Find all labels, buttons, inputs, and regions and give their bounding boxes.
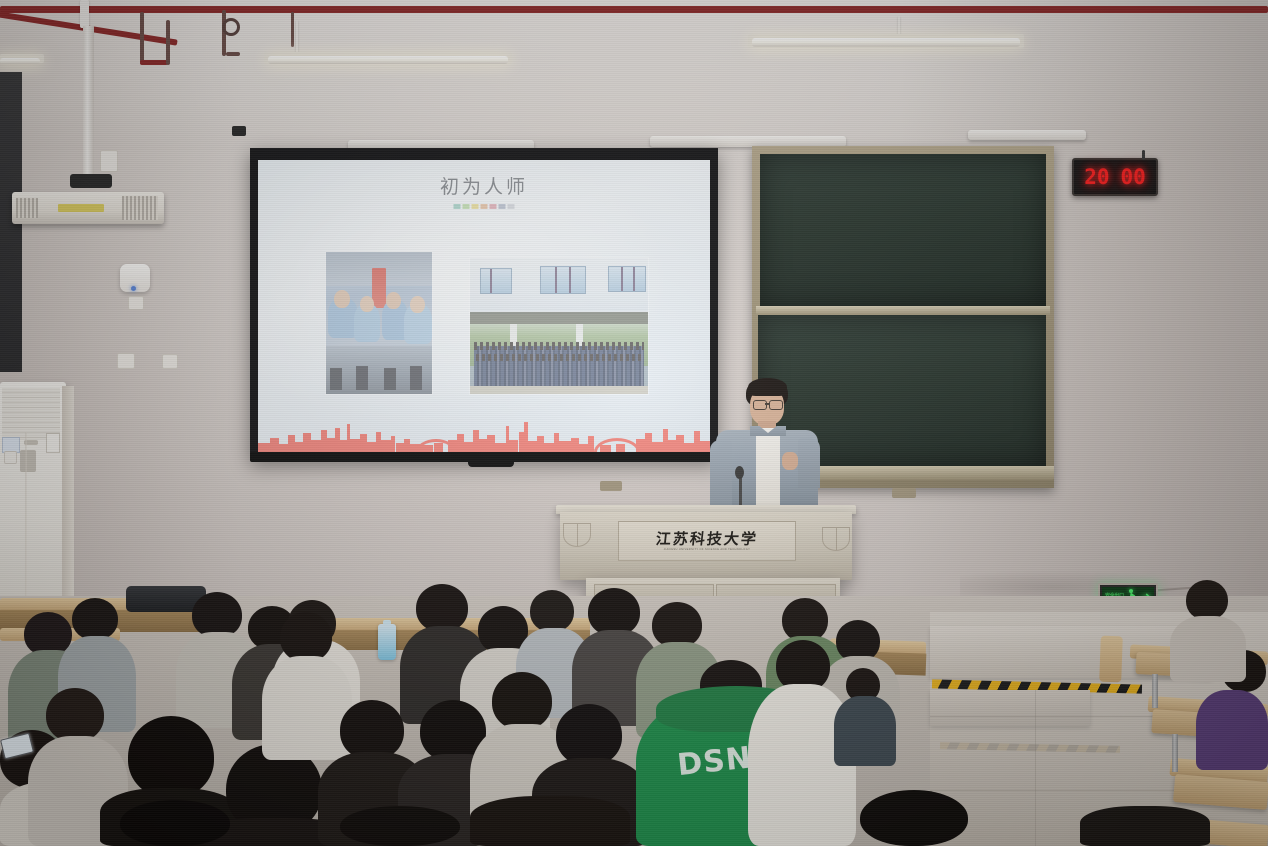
clock-display: 20 00 (1084, 165, 1146, 189)
slide-title: 初为人师 (258, 172, 710, 199)
student-head-r2 (1186, 580, 1228, 620)
lecture-hall-photo: 初为人师 (0, 0, 1268, 846)
sprinkler-pipe-main (0, 6, 1268, 13)
clock-hours: 20 (1084, 165, 1109, 189)
student-head-f2 (340, 806, 460, 846)
pipe-drop-right (166, 20, 170, 65)
clock-wire (1142, 150, 1145, 160)
accent-square-7 (508, 204, 515, 209)
student-body-r1-purple (1196, 690, 1268, 770)
presenter (700, 378, 830, 508)
podium-crest-right (822, 527, 850, 551)
digital-clock: 20 00 (1072, 158, 1158, 196)
projector-vent-left (16, 198, 38, 218)
slide-photo-class-group (470, 312, 648, 394)
projector-vent-right (122, 196, 158, 220)
presenter-hair-top (748, 378, 787, 396)
air-conditioner-control-panel (20, 450, 36, 472)
pipe-bracket-horizontal (140, 60, 168, 65)
wall-switch-plate-ap (128, 296, 144, 310)
accent-square-2 (463, 204, 470, 209)
student-head-m3 (128, 716, 214, 798)
presenter-arm-right (798, 438, 820, 488)
podium-microphone (735, 466, 744, 479)
student-head-m8 (492, 672, 552, 730)
building-window-2 (540, 266, 586, 294)
light-hanger-1 (296, 20, 298, 56)
student-head-b6 (416, 584, 468, 632)
slide-accent-squares (454, 204, 515, 209)
blackboard-bracket-right (892, 488, 916, 498)
presenter-glasses-bridge (765, 403, 769, 405)
screen-weight-center-tab (468, 460, 514, 467)
student-body-m5 (262, 656, 352, 760)
projector-wall-box (100, 150, 118, 172)
pipe-hook-2 (226, 52, 240, 56)
student-head-m5 (280, 612, 332, 662)
wifi-led-icon (131, 286, 136, 291)
screen-roller-bracket (232, 126, 246, 136)
floor-step-lower (930, 690, 1090, 726)
student-body-m11 (834, 696, 896, 766)
accent-square-5 (490, 204, 497, 209)
accent-square-3 (472, 204, 479, 209)
student-head-m9 (556, 704, 622, 766)
wall-switch-plate-2 (162, 354, 178, 369)
student-head-m2 (46, 688, 104, 742)
projection-screen-surface: 初为人师 (258, 160, 710, 452)
accent-square-6 (499, 204, 506, 209)
slide-skyline-decoration (258, 418, 710, 452)
accent-square-4 (481, 204, 488, 209)
presenter-arm-left (710, 440, 732, 508)
water-bottle (378, 624, 396, 660)
projector-label (58, 204, 104, 212)
clock-minutes: 00 (1121, 165, 1146, 189)
air-conditioner-side (62, 386, 74, 614)
student-head-b9 (588, 588, 640, 636)
seat-back-right-a (1099, 636, 1123, 683)
student-body-r2 (1170, 616, 1246, 682)
podium-crest-left (563, 523, 591, 547)
student-head-f4 (860, 790, 968, 846)
student-body-f3 (470, 796, 630, 846)
podium-nameplate: 江苏科技大学 JIANGSU UNIVERSITY OF SCIENCE AND… (618, 521, 796, 561)
chinese-flag (372, 268, 386, 308)
blackboard-bracket-left (600, 481, 622, 491)
pipe-ceiling-hanger (291, 12, 294, 47)
slide-photo-school-building (470, 258, 648, 314)
blackboard-middle-rail (756, 306, 1050, 315)
screen-roller-far-right (968, 130, 1086, 140)
pipe-drop-left (140, 12, 144, 64)
student-head-f1 (120, 800, 230, 846)
air-conditioner-power-outlet (4, 451, 17, 464)
ceiling-light-center (268, 56, 508, 64)
podium-university-name: 江苏科技大学 (618, 528, 796, 549)
seat-leg-r1 (1152, 674, 1158, 708)
slide-photo-students-parade (326, 252, 432, 394)
presenter-hand (782, 452, 798, 470)
accent-square-1 (454, 204, 461, 209)
presenter-glasses-right (769, 400, 783, 410)
projector-mount-pole (83, 26, 94, 176)
air-conditioner-sticker (46, 433, 60, 453)
floor-tile-line-vertical (1035, 690, 1036, 846)
student-head-b8 (530, 590, 574, 632)
presenter-glasses-left (753, 400, 767, 410)
student-head-m6 (340, 700, 404, 760)
podium-university-name-english: JIANGSU UNIVERSITY OF SCIENCE AND TECHNO… (619, 548, 795, 551)
wall-switch-plate-1 (117, 353, 135, 369)
student-body-f5 (1080, 806, 1210, 846)
building-window-1 (480, 268, 512, 294)
ceiling-pole-vertical (80, 0, 89, 28)
student-head-b2 (72, 598, 118, 640)
seat-leg-r2 (1172, 734, 1178, 772)
air-conditioner-seam (25, 432, 27, 614)
blackboard-panel-top (760, 154, 1046, 306)
building-window-3 (608, 266, 646, 292)
ceiling-light-right (752, 38, 1020, 47)
ceiling-cable-loop (222, 18, 240, 36)
ceiling-light-left (0, 58, 40, 64)
